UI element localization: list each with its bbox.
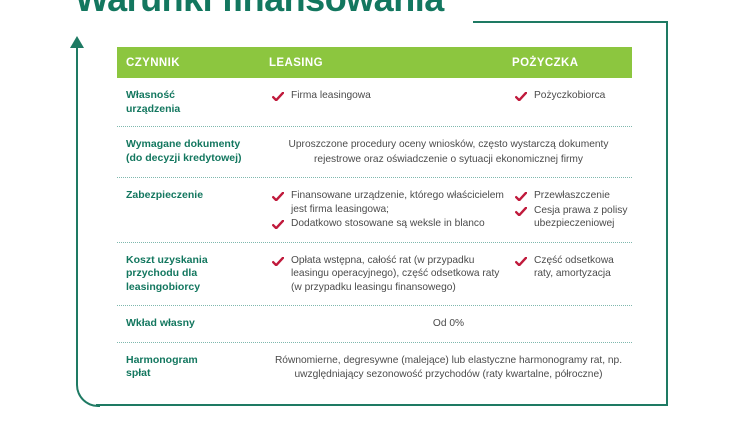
list-item: Cesja prawa z polisy ubezpieczeniowej — [512, 204, 630, 231]
row-loan-value: PrzewłaszczenieCesja prawa z polisy ubez… — [512, 178, 632, 242]
check-tick-icon — [515, 257, 527, 266]
check-tick-icon — [515, 92, 527, 101]
table-row: WłasnośćurządzeniaFirma leasingowaPożycz… — [117, 78, 632, 126]
row-leasing-value: Finansowane urządzenie, którego właścici… — [269, 178, 512, 242]
check-tick-icon — [515, 207, 527, 216]
list-item-label: Pożyczkobiorca — [534, 90, 605, 101]
up-arrow-shaft — [76, 44, 78, 334]
table-row: Wkład własnyOd 0% — [117, 306, 632, 342]
row-merged-value: Równomierne, degresywne (malejące) lub e… — [269, 343, 632, 393]
list-item: Pożyczkobiorca — [512, 89, 630, 103]
column-header-loan: POŻYCZKA — [512, 57, 632, 69]
list-item: Dodatkowo stosowane są weksle in blanco — [269, 217, 506, 231]
row-merged-value: Uproszczone procedury oceny wniosków, cz… — [269, 127, 632, 177]
list-item: Opłata wstępna, całość rat (w przypadku … — [269, 254, 506, 295]
row-factor-label: Koszt uzyskaniaprzychodu dlaleasingobior… — [117, 243, 269, 306]
list-item-label: Finansowane urządzenie, którego właścici… — [291, 190, 504, 215]
bullet-list: PrzewłaszczenieCesja prawa z polisy ubez… — [512, 189, 630, 231]
list-item: Firma leasingowa — [269, 89, 506, 103]
list-item-label: Firma leasingowa — [291, 90, 371, 101]
bullet-list: Pożyczkobiorca — [512, 89, 630, 103]
row-merged-value: Od 0% — [269, 306, 632, 342]
check-tick-icon — [272, 257, 284, 266]
up-arrow-icon — [70, 36, 84, 48]
row-loan-value: Część odsetkowa raty, amortyzacja — [512, 243, 632, 306]
row-leasing-value: Firma leasingowa — [269, 78, 512, 126]
table-body: WłasnośćurządzeniaFirma leasingowaPożycz… — [117, 78, 632, 393]
row-factor-label: Wkład własny — [117, 306, 269, 342]
row-factor-label: Zabezpieczenie — [117, 178, 269, 242]
row-factor-label: Harmonogramspłat — [117, 343, 269, 393]
list-item-label: Część odsetkowa raty, amortyzacja — [534, 255, 614, 280]
slide-canvas: Warunki finansowania CZYNNIK LEASING POŻ… — [0, 0, 750, 421]
check-tick-icon — [272, 192, 284, 201]
list-item-label: Cesja prawa z polisy ubezpieczeniowej — [534, 205, 627, 230]
list-item-label: Przewłaszczenie — [534, 190, 610, 201]
row-factor-label: Własnośćurządzenia — [117, 78, 269, 126]
column-header-factor: CZYNNIK — [117, 57, 269, 69]
row-factor-label: Wymagane dokumenty(do decyzji kredytowej… — [117, 127, 269, 177]
table-row: HarmonogramspłatRównomierne, degresywne … — [117, 343, 632, 393]
page-title: Warunki finansowania — [75, 0, 444, 20]
bullet-list: Firma leasingowa — [269, 89, 506, 103]
comparison-table: CZYNNIK LEASING POŻYCZKA Własnośćurządze… — [117, 47, 632, 393]
list-item: Część odsetkowa raty, amortyzacja — [512, 254, 630, 281]
frame-top-line — [473, 21, 668, 23]
frame-left-line — [76, 330, 78, 384]
table-header-row: CZYNNIK LEASING POŻYCZKA — [117, 47, 632, 78]
list-item-label: Opłata wstępna, całość rat (w przypadku … — [291, 255, 499, 293]
list-item-label: Dodatkowo stosowane są weksle in blanco — [291, 218, 485, 229]
frame-bottom-left-corner — [76, 382, 100, 407]
list-item: Przewłaszczenie — [512, 189, 630, 203]
bullet-list: Opłata wstępna, całość rat (w przypadku … — [269, 254, 506, 295]
table-row: Koszt uzyskaniaprzychodu dlaleasingobior… — [117, 243, 632, 306]
bullet-list: Część odsetkowa raty, amortyzacja — [512, 254, 630, 281]
column-header-leasing: LEASING — [269, 57, 512, 69]
table-row: Wymagane dokumenty(do decyzji kredytowej… — [117, 127, 632, 177]
bullet-list: Finansowane urządzenie, którego właścici… — [269, 189, 506, 231]
frame-bottom-line — [96, 404, 668, 406]
list-item: Finansowane urządzenie, którego właścici… — [269, 189, 506, 216]
check-tick-icon — [515, 192, 527, 201]
check-tick-icon — [272, 92, 284, 101]
check-tick-icon — [272, 220, 284, 229]
table-row: ZabezpieczenieFinansowane urządzenie, kt… — [117, 178, 632, 242]
row-loan-value: Pożyczkobiorca — [512, 78, 632, 126]
frame-right-line — [666, 21, 668, 406]
row-leasing-value: Opłata wstępna, całość rat (w przypadku … — [269, 243, 512, 306]
